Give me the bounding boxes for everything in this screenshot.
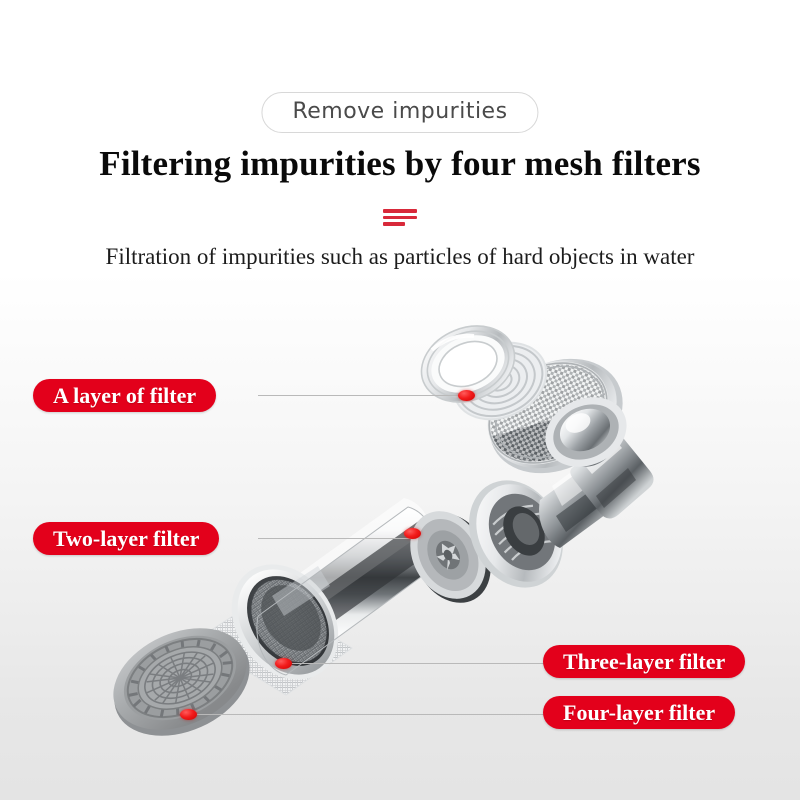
badge-remove-impurities: Remove impurities	[261, 92, 538, 133]
swivel-ball-joint	[552, 408, 653, 518]
callout-dot-1	[458, 390, 475, 401]
gasket-ring	[442, 329, 559, 434]
callout-tag-label: Two-layer filter	[53, 526, 199, 552]
leader-line-1	[258, 395, 470, 396]
leader-line-3	[285, 663, 547, 664]
mesh-spray-head	[469, 336, 642, 495]
disc-filter-screen	[396, 498, 506, 616]
callout-tag-label: A layer of filter	[53, 383, 196, 409]
callout-dot-3	[275, 658, 292, 669]
callout-tag-three-layer[interactable]: Three-layer filter	[543, 645, 745, 678]
callout-tag-label: Three-layer filter	[563, 649, 725, 675]
divider-bar-1	[383, 209, 417, 213]
leader-line-2	[258, 538, 416, 539]
mesh-screen-square	[196, 597, 352, 695]
callout-tag-label: Four-layer filter	[563, 700, 715, 726]
page-subtitle: Filtration of impurities such as particl…	[0, 244, 800, 270]
radial-aerator-disc	[97, 609, 266, 756]
leader-line-4	[190, 714, 548, 715]
infographic-canvas: Remove impurities Filtering impurities b…	[0, 0, 800, 800]
callout-tag-a-layer[interactable]: A layer of filter	[33, 379, 216, 412]
section-divider	[383, 209, 417, 226]
badge-label: Remove impurities	[292, 99, 507, 124]
page-title: Filtering impurities by four mesh filter…	[0, 144, 800, 184]
callout-tag-four-layer[interactable]: Four-layer filter	[543, 696, 735, 729]
divider-bar-3	[383, 222, 405, 226]
callout-dot-4	[180, 709, 197, 720]
threaded-connector	[451, 444, 629, 604]
divider-bar-2	[383, 216, 417, 220]
callout-dot-2	[404, 528, 421, 539]
callout-tag-two-layer[interactable]: Two-layer filter	[33, 522, 219, 555]
